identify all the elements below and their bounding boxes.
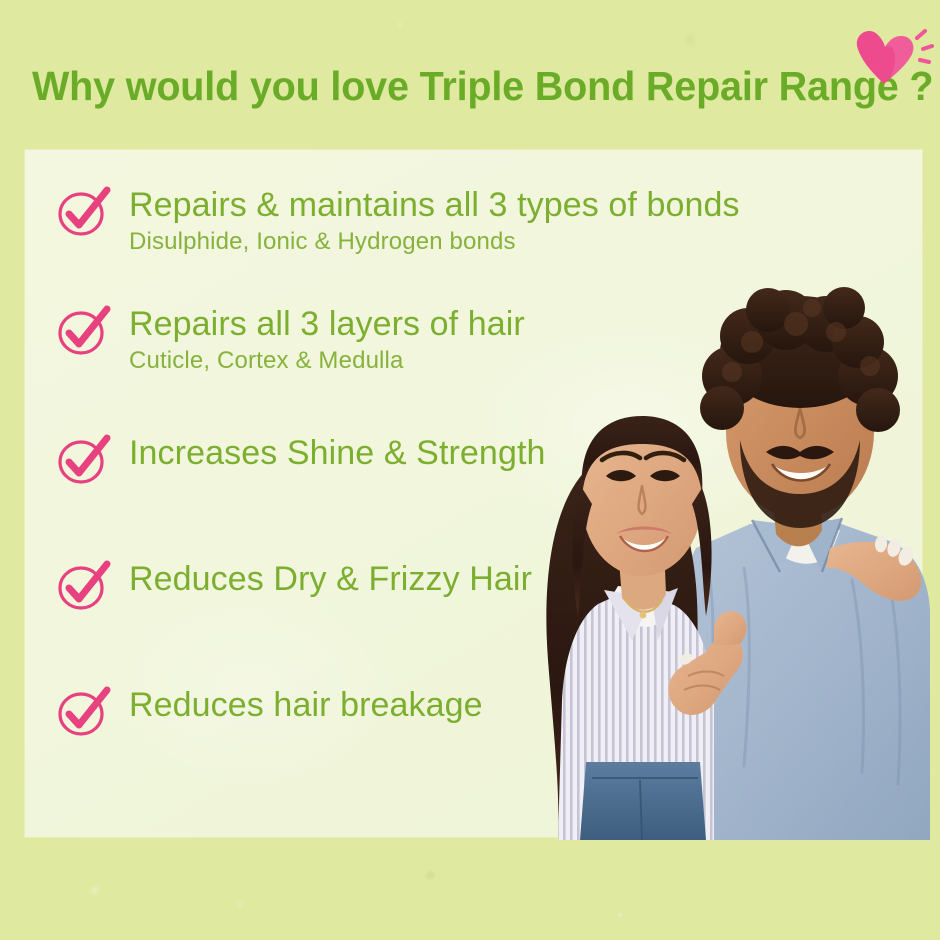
list-item: Repairs all 3 layers of hair Cuticle, Co… [55,305,695,376]
check-circle-icon [55,558,113,612]
heart-icon [845,22,937,92]
benefit-title: Reduces hair breakage [129,686,695,724]
benefit-title: Repairs all 3 layers of hair [129,305,695,343]
page-title: Why would you love Triple Bond Repair Ra… [32,63,933,110]
benefit-subtitle: Disulphide, Ionic & Hydrogen bonds [129,228,695,257]
check-circle-icon [55,184,113,238]
benefit-title: Increases Shine & Strength [129,434,695,472]
poster-root: Why would you love Triple Bond Repair Ra… [0,0,940,940]
list-item: Increases Shine & Strength [55,434,695,472]
check-circle-icon [55,432,113,486]
check-circle-icon [55,303,113,357]
list-item: Reduces hair breakage [55,686,695,724]
list-item: Reduces Dry & Frizzy Hair [55,560,695,598]
benefit-title: Repairs & maintains all 3 types of bonds [129,186,695,224]
check-circle-icon [55,684,113,738]
list-item: Repairs & maintains all 3 types of bonds… [55,186,695,257]
content-panel: Repairs & maintains all 3 types of bonds… [25,150,922,837]
benefit-subtitle: Cuticle, Cortex & Medulla [129,347,695,376]
benefits-list: Repairs & maintains all 3 types of bonds… [55,186,695,724]
benefit-title: Reduces Dry & Frizzy Hair [129,560,695,598]
